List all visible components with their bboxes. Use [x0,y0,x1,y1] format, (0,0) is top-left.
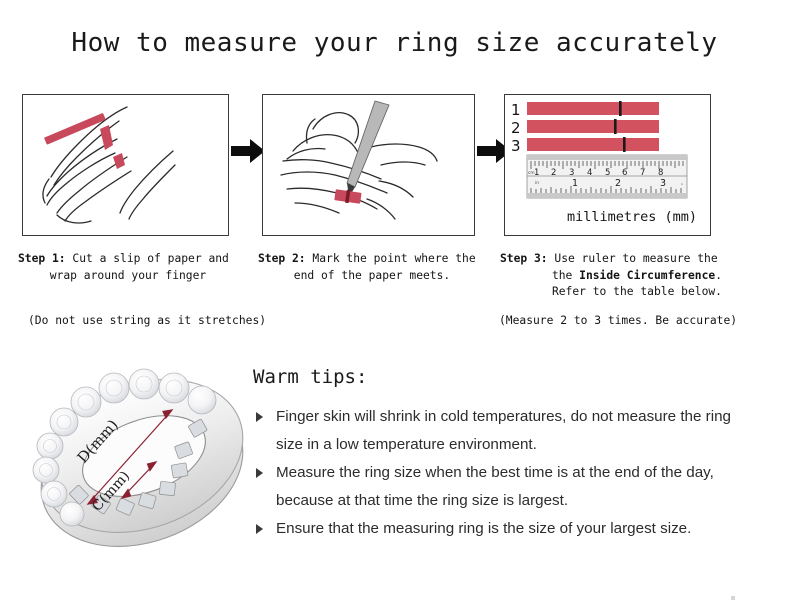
hand-marking-pen-icon [263,95,473,234]
right-arrow-icon [231,138,265,164]
strip-label-1: 1 [511,101,521,119]
warm-tip-text: Finger skin will shrink in cold temperat… [276,408,731,453]
step-3-line3: Refer to the table below. [500,284,732,301]
svg-text:4: 4 [587,168,592,178]
scan-artifact-speck [731,596,735,600]
ruler-cm-unit: cm [528,171,535,176]
step-2-illustration-panel [262,94,475,236]
step-2-label: Step 2: [258,252,306,265]
strip-label-3: 3 [511,137,521,155]
page-title: How to measure your ring size accurately [0,28,789,58]
pen-shape [347,101,389,197]
bullet-triangle-icon [256,468,263,478]
step-3-note: (Measure 2 to 3 times. Be accurate) [499,314,737,327]
paper-strip-shape [44,113,106,145]
warm-tip-text: Ensure that the measuring ring is the si… [276,520,691,537]
ruler-inch-unit: in [535,180,539,186]
svg-text:6: 6 [622,168,627,178]
ruler-caption: millimetres (mm) [567,209,697,225]
ring-diagram: D(mm) C(mm) [26,352,258,574]
step-1-label: Step 1: [18,252,66,265]
warm-tip-item: Measure the ring size when the best time… [254,459,754,515]
step-1-illustration-panel [22,94,229,236]
step-1-line1: Cut a slip of paper and [72,252,228,265]
svg-text:3: 3 [660,178,666,189]
svg-text:1: 1 [534,168,539,178]
step-3-line2-pre: the [552,269,579,282]
svg-text:7: 7 [640,168,645,178]
bullet-triangle-icon [256,412,263,422]
step-2-caption: Step 2: Mark the point where the end of … [258,251,486,284]
ruler-with-strips-icon: 1 2 3 [505,95,709,234]
hand-with-paper-strip-icon [23,95,227,234]
svg-text:1: 1 [572,178,578,189]
step-1-caption: Step 1: Cut a slip of paper and wrap aro… [18,251,238,284]
bullet-triangle-icon [256,524,263,534]
paper-strip-on-finger-shape [334,189,361,204]
step-3-line2: the Inside Circumference. [500,268,732,285]
svg-text:2: 2 [551,168,556,178]
step-3-label: Step 3: [500,252,548,265]
svg-text:5: 5 [605,168,610,178]
ruler-shape: 123 456 78 cm 123 in " [527,155,687,198]
svg-text:3: 3 [569,168,574,178]
step-2-line1: Mark the point where the [312,252,475,265]
strip-label-2: 2 [511,119,521,137]
warm-tips-heading: Warm tips: [253,366,367,388]
warm-tip-text: Measure the ring size when the best time… [276,464,714,509]
step-3-caption: Step 3: Use ruler to measure the the Ins… [500,251,732,301]
step-3-line2-post: . [715,269,722,282]
measured-strips-shape [527,101,659,152]
paper-strip-wrapped-shape [100,125,125,169]
step-3-line1: Use ruler to measure the [554,252,717,265]
step-2-line2: end of the paper meets. [258,268,486,285]
warm-tip-item: Ensure that the measuring ring is the si… [254,515,754,543]
step-3-illustration-panel: 1 2 3 [504,94,711,236]
warm-tip-item: Finger skin will shrink in cold temperat… [254,403,754,459]
step-1-note: (Do not use string as it stretches) [28,314,266,327]
step-3-inside-circumference-term: Inside Circumference [579,269,715,282]
svg-text:8: 8 [658,168,663,178]
svg-text:2: 2 [615,178,621,189]
step-1-line2: wrap around your finger [18,268,238,285]
warm-tips-list: Finger skin will shrink in cold temperat… [254,403,754,543]
